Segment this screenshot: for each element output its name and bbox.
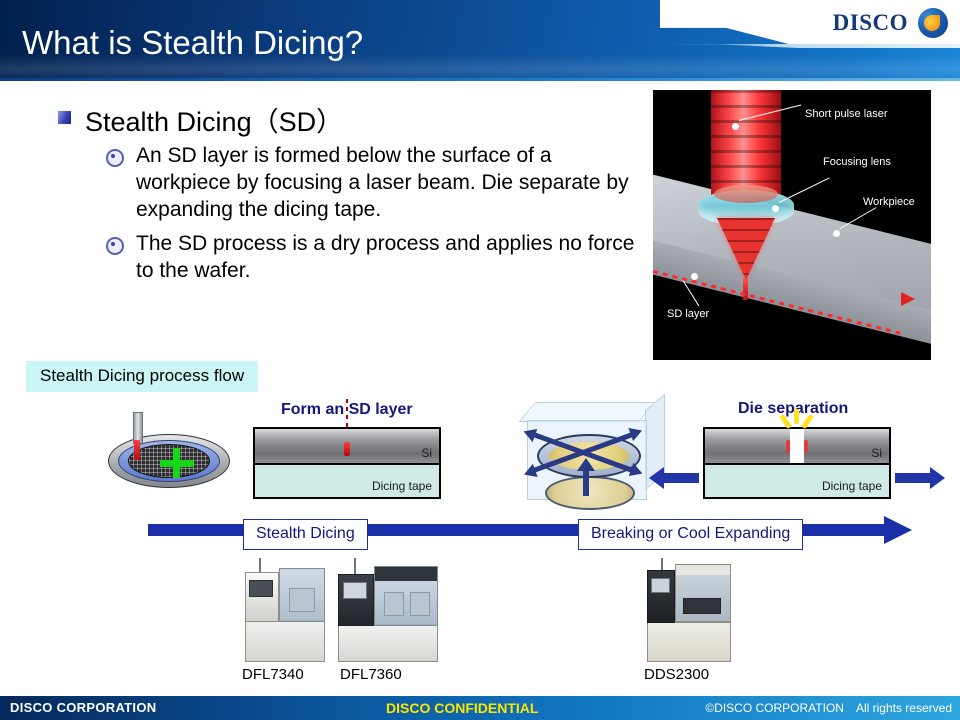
arrow-label-breaking-cool-expanding: Breaking or Cool Expanding: [578, 519, 803, 550]
laser-path-dashed-line: [346, 399, 348, 431]
machine-caption: DDS2300: [644, 666, 709, 683]
process-flow-title: Stealth Dicing process flow: [26, 361, 258, 392]
section-heading: Stealth Dicing（SD）: [58, 100, 343, 139]
footer-confidential: DISCO CONFIDENTIAL: [386, 700, 538, 716]
die-gap: [790, 429, 804, 463]
expander-push-disc: [545, 476, 635, 510]
callout-leader: [779, 178, 830, 203]
si-label: Si: [871, 446, 882, 460]
callout-dot: [833, 230, 840, 237]
spiral-bullet-icon: [106, 237, 124, 255]
si-layer-split: Si: [705, 429, 889, 465]
machine-signal-tower: [259, 558, 261, 572]
bullet-text: The SD process is a dry process and appl…: [136, 230, 636, 284]
bullet-list: An SD layer is formed below the surface …: [106, 142, 636, 291]
sd-layer-arrow: [901, 292, 915, 306]
sd-layer-mark: [344, 442, 350, 456]
figure-label: Short pulse laser: [805, 108, 888, 120]
arrow-label-stealth-dicing: Stealth Dicing: [243, 519, 368, 550]
callout-dot: [732, 123, 739, 130]
slide-header: What is Stealth Dicing? DISCO: [0, 0, 960, 80]
logo-wordmark: DISCO: [833, 10, 908, 36]
machine-screen: [651, 578, 670, 593]
machine-chuck: [683, 598, 721, 614]
header-underline: [0, 78, 960, 81]
process-arrow-head: [884, 516, 912, 544]
tape-expand-arrow-right: [895, 473, 931, 483]
tape-expand-arrow-left: [663, 473, 699, 483]
square-bullet-icon: [58, 111, 71, 124]
laser-head-beam: [134, 440, 140, 460]
scan-direction-cross-icon: [160, 448, 194, 478]
machine-caption: DFL7360: [340, 666, 402, 683]
spiral-bullet-icon: [106, 149, 124, 167]
dicing-tape-label: Dicing tape: [822, 479, 882, 493]
machine-base: [647, 622, 731, 662]
si-label: Si: [421, 446, 432, 460]
laser-beam-column: [711, 90, 781, 198]
callout-dot: [772, 205, 779, 212]
machine-interior-right: [410, 592, 430, 616]
machine-screen: [249, 580, 273, 597]
figure-label: Workpiece: [863, 196, 915, 208]
si-layer: Si: [255, 429, 439, 465]
dicing-tape-label: Dicing tape: [372, 479, 432, 493]
machine-interior: [289, 588, 315, 612]
cross-section-form-sd-layer: Si Dicing tape: [253, 427, 441, 499]
machine-screen: [343, 582, 367, 599]
dicing-tape-layer: Dicing tape: [705, 465, 889, 497]
figure-label: Focusing lens: [823, 156, 891, 168]
header-wedge-edge: [660, 44, 960, 48]
page-title: What is Stealth Dicing?: [22, 24, 363, 62]
list-item: The SD process is a dry process and appl…: [106, 230, 636, 284]
machine-signal-tower: [354, 558, 356, 574]
machine-caption: DFL7340: [242, 666, 304, 683]
machine-signal-tower: [661, 558, 663, 570]
expander-illustration: [519, 418, 679, 513]
figure-label: SD layer: [667, 308, 709, 320]
machine-dfl7360: DFL7360: [336, 558, 441, 663]
machine-interior-left: [384, 592, 404, 616]
push-up-arrow: [583, 470, 589, 496]
expander-box-top: [519, 402, 656, 422]
wafer-on-frame-illustration: [108, 428, 228, 488]
disco-logo: DISCO: [833, 8, 948, 38]
dicing-tape-layer: Dicing tape: [255, 465, 439, 497]
machine-dds2300: DDS2300: [645, 558, 735, 663]
section-heading-label: Stealth Dicing（SD）: [85, 100, 343, 139]
footer-company: DISCO CORPORATION: [10, 700, 156, 715]
footer-copyright: ©DISCO CORPORATION All rights reserved: [705, 701, 952, 715]
crack-flash-icon: [780, 409, 814, 431]
list-item: An SD layer is formed below the surface …: [106, 142, 636, 223]
bullet-text: An SD layer is formed below the surface …: [136, 142, 636, 223]
machine-base: [338, 624, 438, 662]
slide-footer: DISCO CORPORATION DISCO CONFIDENTIAL ©DI…: [0, 696, 960, 720]
stealth-dicing-principle-figure: Short pulse laser Focusing lens Workpiec…: [653, 90, 931, 360]
disco-globe-icon: [918, 8, 948, 38]
callout-dot: [691, 273, 698, 280]
machine-base: [245, 620, 325, 662]
machine-dfl7340: DFL7340: [243, 558, 328, 663]
cross-section-die-separation: Si Dicing tape: [703, 427, 891, 499]
